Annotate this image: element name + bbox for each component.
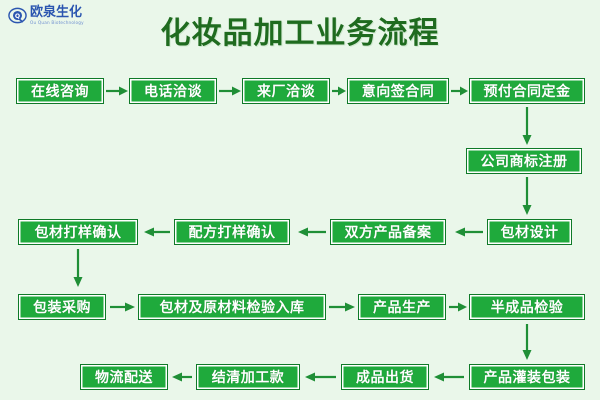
flow-node-semifinished-check[interactable]: 半成品检验 [469,294,585,320]
arrow-right-r4-2 [329,300,355,314]
flow-node-packaging-purchase[interactable]: 包装采购 [18,294,106,320]
flow-node-production[interactable]: 产品生产 [358,294,446,320]
flow-node-settle-payment[interactable]: 结清加工款 [196,364,300,390]
flow-node-formula-sample-ok[interactable]: 配方打样确认 [174,219,290,245]
arrow-down-r4-to-r5 [520,324,534,360]
arrow-down-r3-to-r4 [71,249,85,287]
flow-node-finished-shipment[interactable]: 成品出货 [341,364,429,390]
flow-node-product-filing[interactable]: 双方产品备案 [330,219,446,245]
arrow-left-r3-1 [455,225,483,239]
flow-node-prepay-deposit[interactable]: 预付合同定金 [469,78,585,104]
arrow-left-r5-3 [172,370,192,384]
flow-node-logistics-delivery[interactable]: 物流配送 [80,364,168,390]
arrow-right-r1-3 [332,84,346,98]
arrow-down-r2-to-r3 [520,177,534,215]
flow-node-filling-packaging[interactable]: 产品灌装包装 [469,364,585,390]
arrow-right-r1-4 [451,84,468,98]
flow-node-material-inspection[interactable]: 包材及原材料检验入库 [138,294,326,320]
flowchart-canvas: Q 欧泉生化 Ou Quan Biotechnology 化妆品加工业务流程 在… [0,0,600,400]
flow-node-intent-contract[interactable]: 意向签合同 [347,78,449,104]
arrow-left-r5-2 [305,370,336,384]
flow-node-factory-visit[interactable]: 来厂洽谈 [242,78,330,104]
arrow-right-r1-2 [219,84,241,98]
flow-node-package-design[interactable]: 包材设计 [487,219,572,245]
flow-node-phone-negotiate[interactable]: 电话洽谈 [129,78,217,104]
arrow-left-r3-3 [144,225,170,239]
arrow-right-r1-1 [106,84,128,98]
arrow-left-r3-2 [298,225,326,239]
flow-node-package-sample-ok[interactable]: 包材打样确认 [18,219,138,245]
arrow-down-r1-to-r2 [520,107,534,145]
page-title: 化妆品加工业务流程 [0,8,600,52]
arrow-right-r4-3 [449,300,467,314]
flow-node-online-consult[interactable]: 在线咨询 [16,78,104,104]
arrow-left-r5-1 [434,370,464,384]
arrow-right-r4-1 [110,300,135,314]
flow-node-trademark-registration[interactable]: 公司商标注册 [466,148,582,174]
